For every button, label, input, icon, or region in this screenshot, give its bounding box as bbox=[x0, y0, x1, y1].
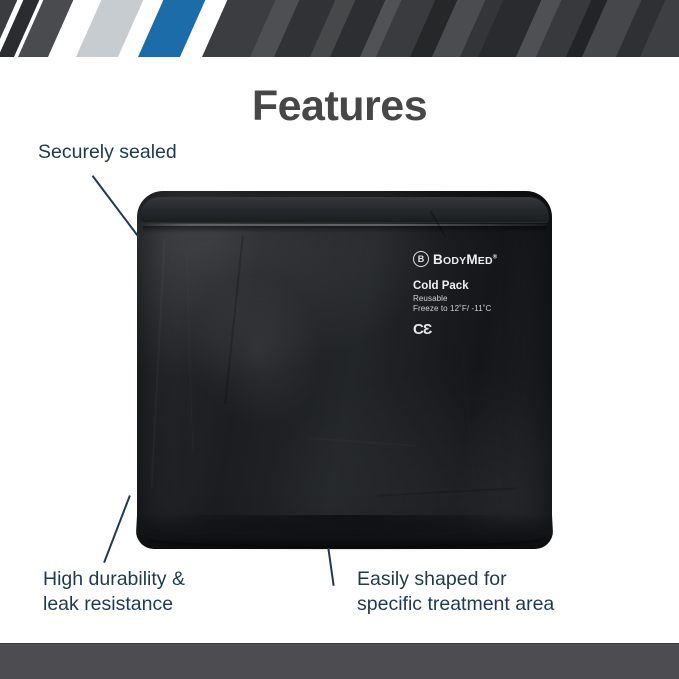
leader-line-high-durability bbox=[103, 495, 130, 563]
bodymed-wordmark: BODYMED® bbox=[433, 252, 497, 267]
wordmark-ody: ODY bbox=[443, 255, 466, 267]
pack-crease bbox=[461, 341, 474, 481]
page-title: Features bbox=[0, 82, 679, 131]
pack-crease bbox=[377, 487, 517, 496]
leader-line-securely-sealed bbox=[92, 175, 140, 238]
bodymed-logo: B BODYMED® bbox=[413, 251, 535, 267]
pack-body: B BODYMED® Cold Pack Reusable Freeze to … bbox=[137, 191, 552, 546]
wordmark-ed: ED bbox=[478, 255, 493, 267]
footer-bar bbox=[0, 643, 679, 679]
ce-mark-icon: CƐ bbox=[413, 321, 535, 338]
leader-line-easily-shaped bbox=[327, 548, 334, 586]
product-freeze-temp-text: Freeze to 12˚F/ -11˚C bbox=[413, 304, 535, 313]
bodymed-logo-icon: B bbox=[413, 251, 429, 267]
header-banner bbox=[0, 0, 679, 57]
annotation-securely-sealed: Securely sealed bbox=[38, 140, 177, 165]
pack-seam-shadow bbox=[143, 226, 546, 233]
annotation-high-durability: High durability & leak resistance bbox=[43, 567, 185, 617]
trademark-symbol: ® bbox=[493, 254, 498, 260]
wordmark-m: M bbox=[466, 252, 477, 267]
product-label: B BODYMED® Cold Pack Reusable Freeze to … bbox=[413, 251, 535, 338]
pack-sheen bbox=[151, 232, 364, 470]
product-reusable-text: Reusable bbox=[413, 294, 535, 303]
wordmark-b: B bbox=[433, 252, 443, 267]
pack-top-seal-band bbox=[140, 197, 549, 223]
product-name: Cold Pack bbox=[413, 280, 535, 292]
annotation-easily-shaped: Easily shaped for specific treatment are… bbox=[357, 567, 554, 617]
cold-pack-product-image: B BODYMED® Cold Pack Reusable Freeze to … bbox=[137, 191, 552, 546]
